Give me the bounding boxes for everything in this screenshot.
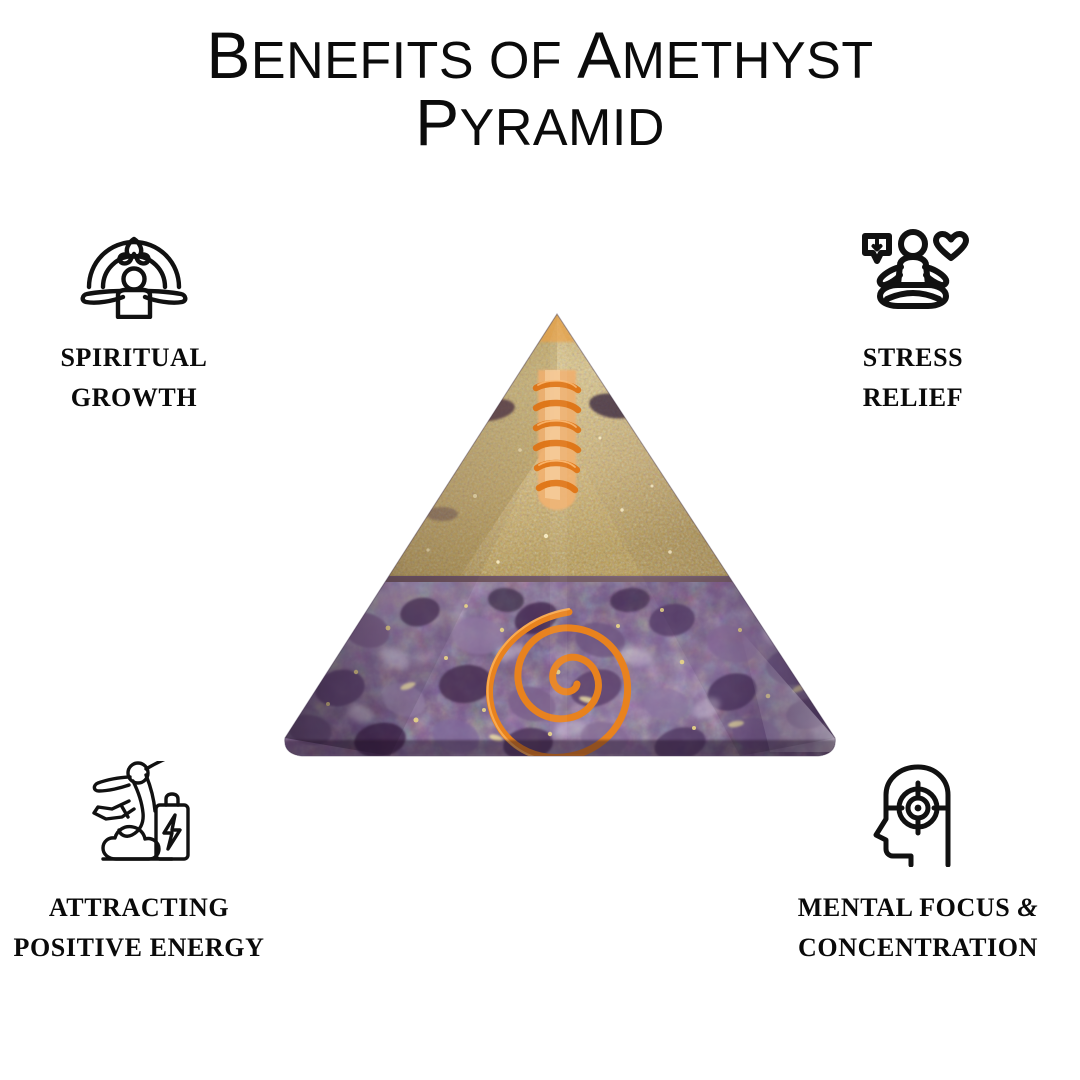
jumping-person-cloud-battery-icon <box>76 761 202 872</box>
benefit-label-line-1-text: MENTAL FOCUS <box>798 893 1018 922</box>
base-rim-shadow <box>283 740 837 756</box>
title-cap-a: A <box>577 18 622 92</box>
infographic-canvas: BENEFITS OF AMETHYST PYRAMID <box>0 0 1080 1080</box>
ampersand-glyph: & <box>1017 893 1038 922</box>
benefit-mental-focus-concentration: MENTAL FOCUS & CONCENTRATION <box>768 760 1068 969</box>
title-cap-b: B <box>206 18 251 92</box>
title-text-amethyst: METHYST <box>622 32 874 90</box>
page-title-line-1: BENEFITS OF AMETHYST <box>0 22 1080 89</box>
icon-container <box>3 228 265 324</box>
benefit-label-line-1: MENTAL FOCUS & <box>768 888 1068 928</box>
person-arms-open-aura-lotus-icon <box>73 227 195 324</box>
person-meditating-lotus-pose-icon <box>854 227 972 324</box>
page-title: BENEFITS OF AMETHYST PYRAMID <box>0 22 1080 157</box>
page-title-line-2: PYRAMID <box>0 89 1080 156</box>
benefit-label-line-1: SPIRITUAL <box>3 338 265 378</box>
benefit-label: MENTAL FOCUS & CONCENTRATION <box>768 872 1068 969</box>
benefit-label-line-2: GROWTH <box>3 378 265 418</box>
pyramid-body <box>270 300 850 778</box>
icon-container <box>0 760 278 872</box>
benefit-label-line-2: POSITIVE ENERGY <box>0 928 278 968</box>
benefit-label: ATTRACTING POSITIVE ENERGY <box>0 872 278 969</box>
benefit-label-line-1: ATTRACTING <box>0 888 278 928</box>
benefit-label: SPIRITUAL GROWTH <box>3 324 265 419</box>
amethyst-orgonite-pyramid-image <box>270 300 850 778</box>
benefit-label-line-2: CONCENTRATION <box>768 928 1068 968</box>
benefit-attracting-positive-energy: ATTRACTING POSITIVE ENERGY <box>0 760 278 969</box>
title-text-benefits-of: ENEFITS OF <box>251 32 577 90</box>
head-profile-target-icon <box>866 761 970 872</box>
title-cap-p: P <box>415 85 460 159</box>
title-text-pyramid: YRAMID <box>460 99 665 157</box>
benefit-spiritual-growth: SPIRITUAL GROWTH <box>3 228 265 419</box>
